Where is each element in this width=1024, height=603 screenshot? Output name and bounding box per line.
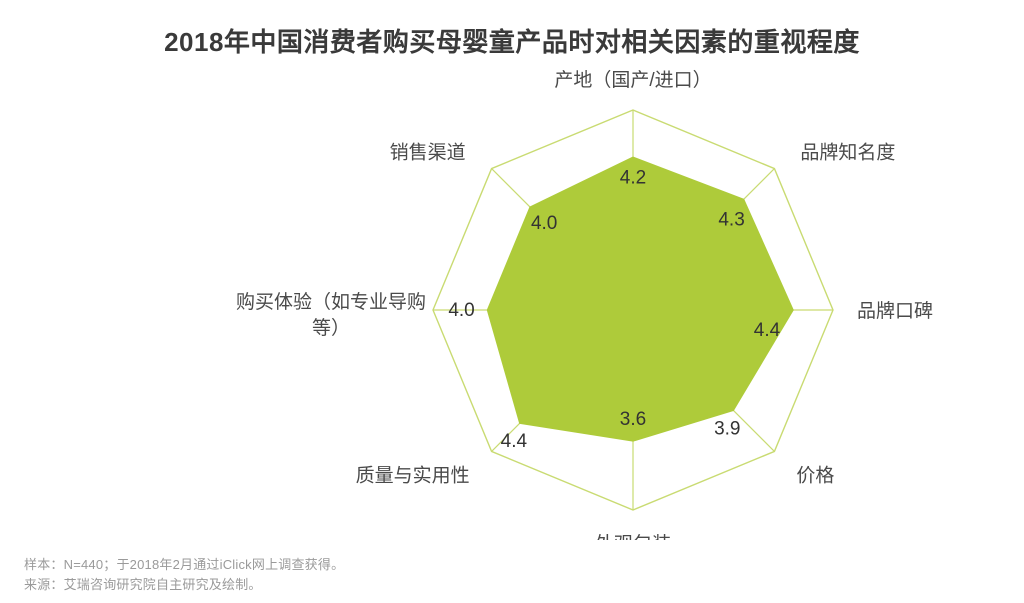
radar-axis-label: 品牌口碑 <box>857 300 933 322</box>
radar-svg: 产地（国产/进口）品牌知名度品牌口碑价格外观包装质量与实用性购买体验（如专业导购… <box>0 60 1024 540</box>
radar-value-label: 4.0 <box>531 213 557 234</box>
radar-value-label: 4.4 <box>501 431 528 452</box>
footnote-sample: 样本：N=440；于2018年2月通过iClick网上调查获得。 <box>24 555 344 575</box>
radar-axis-label: 销售渠道 <box>390 142 466 164</box>
radar-value-label: 4.4 <box>754 320 781 341</box>
radar-axis-label: 质量与实用性 <box>356 464 470 486</box>
radar-value-label: 4.3 <box>718 209 744 230</box>
radar-axis-label: 外观包装 <box>595 533 671 540</box>
radar-value-label: 3.9 <box>714 418 740 439</box>
footnote-source: 来源：艾瑞咨询研究院自主研究及绘制。 <box>24 575 344 595</box>
radar-axis-label: 购买体验（如专业导购等） <box>236 291 426 339</box>
radar-value-label: 4.2 <box>620 167 646 188</box>
radar-value-label: 3.6 <box>620 409 646 430</box>
radar-axis-label: 产地（国产/进口） <box>554 69 711 91</box>
radar-axis-label: 价格 <box>796 464 834 486</box>
radar-chart: 产地（国产/进口）品牌知名度品牌口碑价格外观包装质量与实用性购买体验（如专业导购… <box>0 60 1024 540</box>
page-title: 2018年中国消费者购买母婴童产品时对相关因素的重视程度 <box>0 22 1024 59</box>
radar-axis-label: 品牌知名度 <box>800 142 895 164</box>
radar-data-polygon <box>488 157 793 441</box>
radar-value-label: 4.0 <box>448 300 474 321</box>
footnotes: 样本：N=440；于2018年2月通过iClick网上调查获得。 来源：艾瑞咨询… <box>24 555 344 595</box>
radar-series-polygon <box>488 157 793 441</box>
